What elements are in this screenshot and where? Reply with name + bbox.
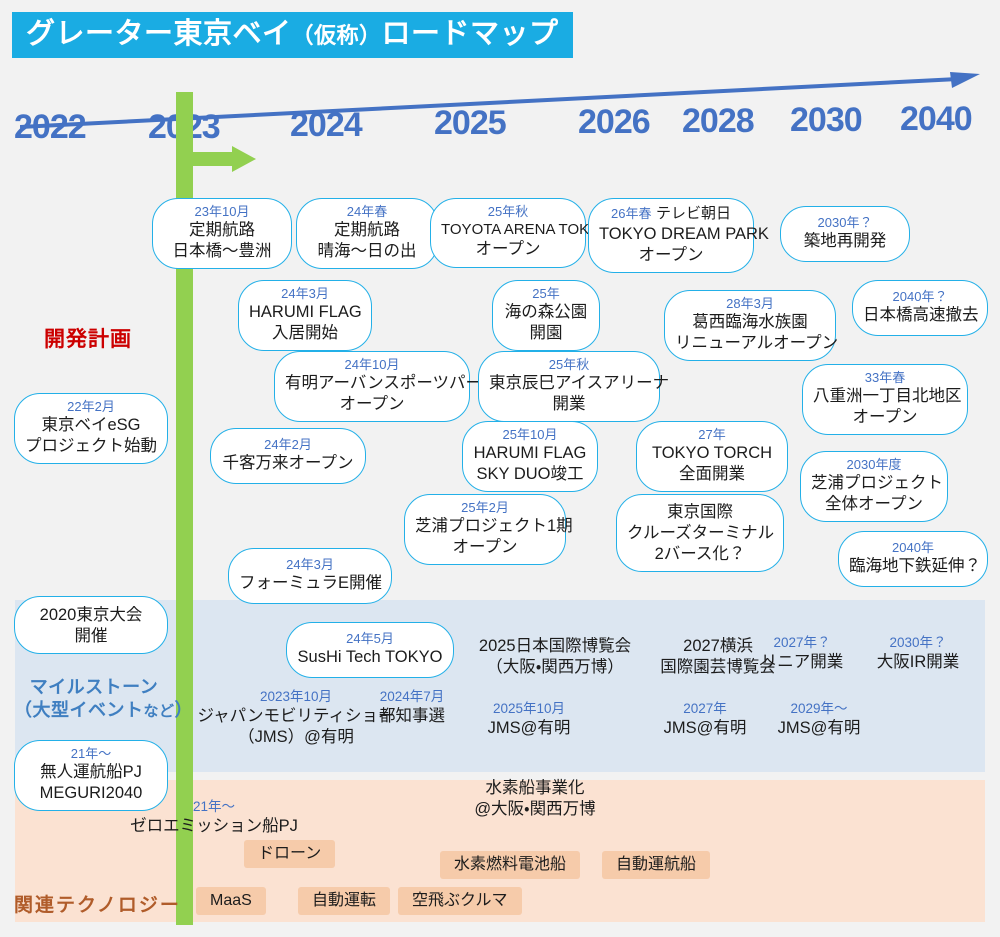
milestone-item-linear: 2027年？ リニア開業 bbox=[752, 634, 852, 673]
section-label-development: 開発計画 bbox=[44, 323, 132, 353]
item-line-1: 築地再開発 bbox=[791, 231, 899, 252]
item-line-2: オープン bbox=[599, 245, 743, 266]
dev-item-tokyo-torch[interactable]: 27年 TOKYO TORCH 全面開業 bbox=[636, 421, 788, 492]
item-line-1: 千客万来オープン bbox=[221, 453, 355, 474]
section-label-technology: 関連テクノロジー bbox=[14, 890, 181, 917]
item-line-2: （大阪・関西万博） bbox=[465, 657, 645, 678]
item-date: 28年3月 bbox=[675, 296, 825, 312]
year-label-2022: 2022 bbox=[14, 108, 86, 147]
item-line-1: 芝浦プロジェクト bbox=[811, 473, 937, 494]
item-line-1: JMS@有明 bbox=[650, 718, 760, 739]
item-date: 2030年？ bbox=[791, 215, 899, 231]
item-date: 24年3月 bbox=[249, 286, 361, 302]
tech-item-hydrogen-ship: 水素船事業化 @大阪・関西万博 bbox=[420, 778, 650, 821]
item-line-2: 全体オープン bbox=[811, 494, 937, 515]
item-line-2: オープン bbox=[441, 239, 575, 260]
item-date: 2040年？ bbox=[863, 289, 977, 305]
item-date: 25年秋 bbox=[489, 357, 649, 373]
tech-tag-drone[interactable]: ドローン bbox=[244, 840, 335, 868]
item-line-1: 定期航路 bbox=[163, 220, 281, 241]
item-line-2: 入居開始 bbox=[249, 323, 361, 344]
dev-item-tokyobay-esg[interactable]: 22年2月 東京ベイeSG プロジェクト始動 bbox=[14, 393, 168, 464]
milestone-label-line1: マイルストーン bbox=[30, 677, 159, 697]
item-date: 24年3月 bbox=[239, 557, 381, 573]
item-line-1: 東京ベイeSG bbox=[25, 415, 157, 436]
item-line-1: フォーミュラE開催 bbox=[239, 573, 381, 594]
milestone-item-jms-2027: 2027年 JMS@有明 bbox=[650, 700, 760, 739]
item-date: 25年10月 bbox=[473, 427, 587, 443]
item-date: 2040年 bbox=[849, 540, 977, 556]
item-line-1: TOKYO TORCH bbox=[647, 443, 777, 464]
item-line-2: SKY DUO竣工 bbox=[473, 464, 587, 485]
item-line-1: 水素船事業化 bbox=[420, 778, 650, 799]
dev-item-tokyo-dream-park[interactable]: 26年春 テレビ朝日 TOKYO DREAM PARK オープン bbox=[588, 198, 754, 273]
item-line-1: 八重洲一丁目北地区 bbox=[813, 386, 957, 407]
item-line-1: 2025日本国際博覧会 bbox=[465, 636, 645, 657]
item-line-2: 全面開業 bbox=[647, 464, 777, 485]
dev-item-shibaura-full[interactable]: 2030年度 芝浦プロジェクト 全体オープン bbox=[800, 451, 948, 522]
item-line-1: 定期航路 bbox=[307, 220, 427, 241]
dev-item-uminomori-park[interactable]: 25年 海の森公園 開園 bbox=[492, 280, 600, 351]
item-line-1: JMS@有明 bbox=[462, 718, 596, 739]
item-line-1: 日本橋高速撤去 bbox=[863, 305, 977, 326]
item-date: 2027年 bbox=[650, 700, 760, 718]
year-label-2040: 2040 bbox=[900, 100, 972, 139]
item-line-1: 大阪IR開業 bbox=[856, 652, 980, 673]
tech-tag-hydrogen-fuelcell-ship[interactable]: 水素燃料電池船 bbox=[440, 851, 580, 879]
item-line-2: 開業 bbox=[489, 394, 649, 415]
item-date: 27年 bbox=[647, 427, 777, 443]
milestone-item-formula-e[interactable]: 24年3月 フォーミュラE開催 bbox=[228, 548, 392, 604]
title-suffix: ロードマップ bbox=[382, 18, 559, 50]
item-date: 25年2月 bbox=[415, 500, 555, 516]
item-date-extra: テレビ朝日 bbox=[656, 205, 731, 222]
item-line-1: 東京国際 bbox=[627, 502, 773, 523]
dev-item-ariake-urban-sports[interactable]: 24年10月 有明アーバンスポーツパーク オープン bbox=[274, 351, 470, 422]
roadmap-canvas: グレーター東京ベイ（仮称）ロードマップ 2022 2023 2024 2025 … bbox=[0, 0, 1000, 937]
year-label-2025: 2025 bbox=[434, 104, 506, 143]
milestone-label-line2: （大型イベント bbox=[14, 700, 144, 720]
item-date: 33年春 bbox=[813, 370, 957, 386]
item-line-1: TOYOTA ARENA TOKYO bbox=[441, 220, 575, 239]
item-line-2: @大阪・関西万博 bbox=[420, 799, 650, 820]
item-line-1: リニア開業 bbox=[752, 652, 852, 673]
dev-item-senkyakubanrai[interactable]: 24年2月 千客万来オープン bbox=[210, 428, 366, 484]
milestone-label-line2b: など bbox=[144, 703, 175, 720]
milestone-item-jms-2029: 2029年〜 JMS@有明 bbox=[760, 700, 878, 739]
item-date: 21年〜 bbox=[104, 798, 324, 816]
item-line-2: 開催 bbox=[25, 626, 157, 647]
item-line-2: リニューアルオープン bbox=[675, 333, 825, 354]
item-date: 24年5月 bbox=[297, 631, 443, 647]
item-line-2: オープン bbox=[813, 407, 957, 428]
item-line-1: JMS@有明 bbox=[760, 718, 878, 739]
dev-item-tatsumi-ice-arena[interactable]: 25年秋 東京辰巳アイスアリーナ 開業 bbox=[478, 351, 660, 422]
item-line-2: 開園 bbox=[503, 323, 589, 344]
dev-item-yaesu-1chome[interactable]: 33年春 八重洲一丁目北地区 オープン bbox=[802, 364, 968, 435]
item-date: 25年秋 bbox=[441, 204, 575, 220]
item-date: 26年春 bbox=[611, 206, 651, 221]
dev-item-teikikouro-harumi[interactable]: 24年春 定期航路 晴海〜日の出 bbox=[296, 198, 438, 269]
item-line-1: 東京辰巳アイスアリーナ bbox=[489, 373, 649, 394]
item-date: 25年 bbox=[503, 286, 589, 302]
dev-item-harumi-flag[interactable]: 24年3月 HARUMI FLAG 入居開始 bbox=[238, 280, 372, 351]
milestone-item-expo2025: 2025日本国際博覧会 （大阪・関西万博） bbox=[465, 636, 645, 679]
item-line-1: TOKYO DREAM PARK bbox=[599, 224, 743, 245]
item-line-1: 有明アーバンスポーツパーク bbox=[285, 373, 459, 394]
milestone-item-tokyo2020[interactable]: 2020東京大会 開催 bbox=[14, 596, 168, 654]
item-line-2: オープン bbox=[285, 394, 459, 415]
item-date: 2025年10月 bbox=[462, 700, 596, 718]
dev-item-tsukiji[interactable]: 2030年？ 築地再開発 bbox=[780, 206, 910, 262]
item-line-1: HARUMI FLAG bbox=[249, 302, 361, 323]
dev-item-kasai-aquarium[interactable]: 28年3月 葛西臨海水族園 リニューアルオープン bbox=[664, 290, 836, 361]
tech-tag-flying-car[interactable]: 空飛ぶクルマ bbox=[398, 887, 522, 915]
item-date: 21年〜 bbox=[25, 746, 157, 762]
tech-tag-autonomous-driving[interactable]: 自動運転 bbox=[298, 887, 390, 915]
milestone-item-governor-election: 2024年7月 都知事選 bbox=[352, 688, 472, 727]
page-title: グレーター東京ベイ（仮称）ロードマップ bbox=[12, 12, 573, 58]
title-main: グレーター東京ベイ bbox=[26, 18, 292, 50]
item-line-2: （JMS）@有明 bbox=[185, 727, 407, 748]
dev-item-shibaura-phase1[interactable]: 25年2月 芝浦プロジェクト1期 オープン bbox=[404, 494, 566, 565]
item-date: 2030年？ bbox=[856, 634, 980, 652]
item-line-1: 都知事選 bbox=[352, 706, 472, 727]
year-label-2028: 2028 bbox=[682, 102, 754, 141]
item-line-2: 晴海〜日の出 bbox=[307, 241, 427, 262]
item-date: 23年10月 bbox=[163, 204, 281, 220]
item-date: 22年2月 bbox=[25, 399, 157, 415]
item-line-2: オープン bbox=[415, 537, 555, 558]
dev-item-cruise-terminal[interactable]: 東京国際 クルーズターミナル 2バース化？ bbox=[616, 494, 784, 572]
year-label-2026: 2026 bbox=[578, 103, 650, 142]
item-line-1: 2020東京大会 bbox=[25, 602, 157, 626]
dev-item-toyota-arena[interactable]: 25年秋 TOYOTA ARENA TOKYO オープン bbox=[430, 198, 586, 268]
dev-item-nihonbashi-expressway[interactable]: 2040年？ 日本橋高速撤去 bbox=[852, 280, 988, 336]
section-label-milestone: マイルストーン （大型イベントなど） bbox=[14, 676, 174, 722]
tech-item-zero-emission-ship: 21年〜 ゼロエミッション船PJ bbox=[104, 798, 324, 837]
dev-item-rinkai-subway[interactable]: 2040年 臨海地下鉄延伸？ bbox=[838, 531, 988, 587]
milestone-item-osaka-ir: 2030年？ 大阪IR開業 bbox=[856, 634, 980, 673]
item-date: 24年10月 bbox=[285, 357, 459, 373]
tech-tag-autonomous-ship[interactable]: 自動運航船 bbox=[602, 851, 710, 879]
item-line-2: クルーズターミナル bbox=[627, 523, 773, 544]
item-line-1: SusHi Tech TOKYO bbox=[297, 647, 443, 668]
year-label-2024: 2024 bbox=[290, 106, 362, 145]
item-date: 2027年？ bbox=[752, 634, 852, 652]
item-line-1: 無人運航船PJ bbox=[25, 762, 157, 783]
item-line-1: ゼロエミッション船PJ bbox=[104, 816, 324, 837]
item-line-2: プロジェクト始動 bbox=[25, 436, 157, 457]
milestone-item-jms-2025: 2025年10月 JMS@有明 bbox=[462, 700, 596, 739]
year-label-2030: 2030 bbox=[790, 101, 862, 140]
item-line-1: HARUMI FLAG bbox=[473, 443, 587, 464]
current-year-arrow-icon bbox=[176, 146, 256, 172]
item-date: 2030年度 bbox=[811, 457, 937, 473]
dev-item-harumi-sky-duo[interactable]: 25年10月 HARUMI FLAG SKY DUO竣工 bbox=[462, 421, 598, 492]
item-line-1: 臨海地下鉄延伸？ bbox=[849, 556, 977, 577]
item-line-1: 芝浦プロジェクト1期 bbox=[415, 516, 555, 537]
item-date: 24年2月 bbox=[221, 437, 355, 453]
item-date: 24年春 bbox=[307, 204, 427, 220]
item-date: 2029年〜 bbox=[760, 700, 878, 718]
item-line-2: 日本橋〜豊洲 bbox=[163, 241, 281, 262]
item-line-1: 海の森公園 bbox=[503, 302, 589, 323]
item-line-3: 2バース化？ bbox=[627, 544, 773, 565]
milestone-item-sushi-tech[interactable]: 24年5月 SusHi Tech TOKYO bbox=[286, 622, 454, 678]
item-line-1: 葛西臨海水族園 bbox=[675, 312, 825, 333]
title-paren: （仮称） bbox=[292, 23, 382, 48]
dev-item-teikikouro-nihonbashi[interactable]: 23年10月 定期航路 日本橋〜豊洲 bbox=[152, 198, 292, 269]
tech-tag-maas[interactable]: MaaS bbox=[196, 887, 266, 915]
item-date: 2024年7月 bbox=[352, 688, 472, 706]
